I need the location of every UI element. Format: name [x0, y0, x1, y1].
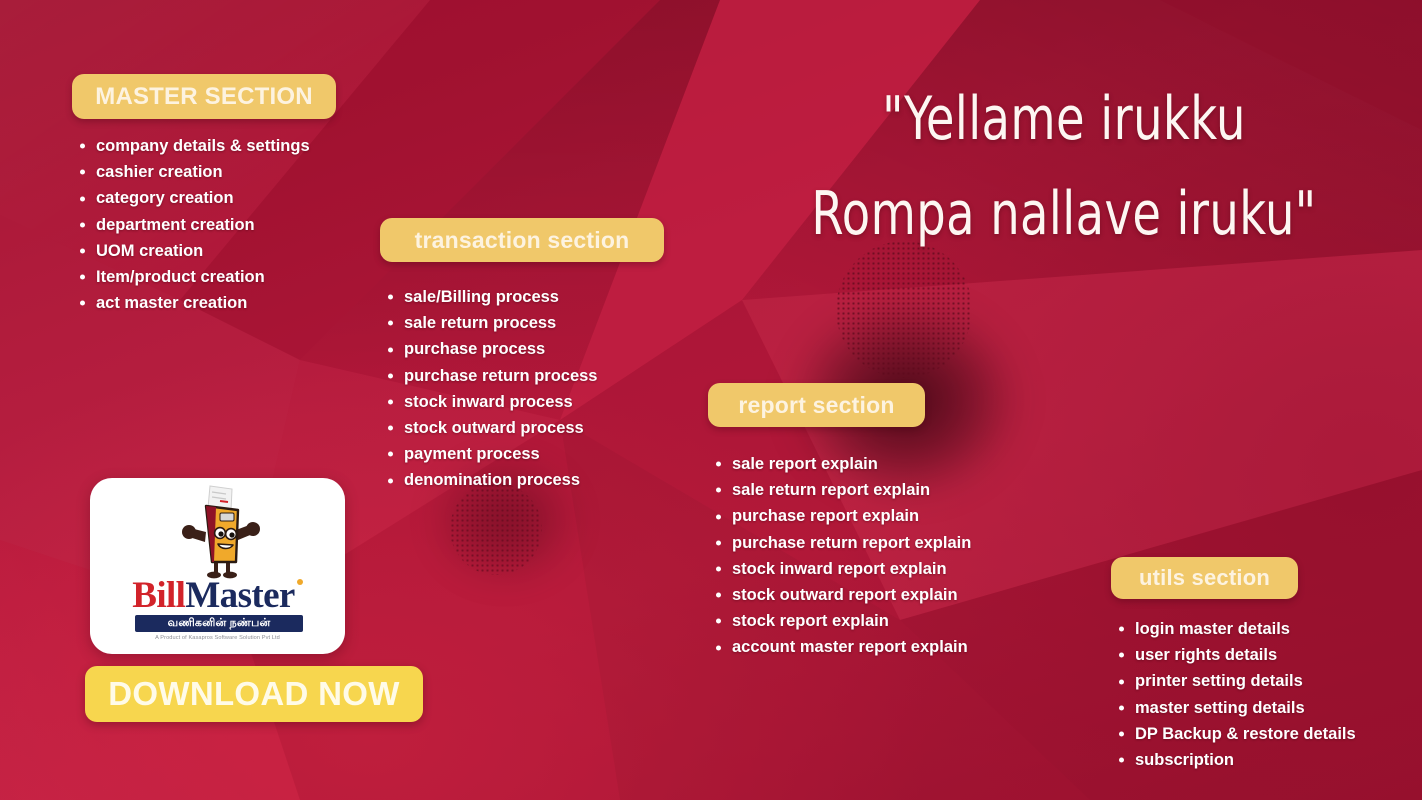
list-item: purchase report explain	[714, 503, 971, 529]
download-now-button[interactable]: DOWNLOAD NOW	[85, 666, 423, 722]
feature-list-master: company details & settings cashier creat…	[78, 133, 310, 316]
logo-word-bill: Bill	[132, 575, 185, 616]
logo-accent-dot	[297, 579, 303, 585]
list-item: cashier creation	[78, 159, 310, 185]
feature-list-transaction: sale/Billing process sale return process…	[386, 284, 598, 494]
list-item: sale/Billing process	[386, 284, 598, 310]
list-item: purchase return report explain	[714, 530, 971, 556]
list-item: sale return process	[386, 310, 598, 336]
list-item: user rights details	[1117, 642, 1356, 668]
feature-list-utils: login master details user rights details…	[1117, 616, 1356, 773]
list-item: act master creation	[78, 290, 310, 316]
logo-tamil-tagline: வணிகனின் நண்பன்	[135, 615, 303, 632]
list-item: category creation	[78, 185, 310, 211]
logo-card: BillMaster வணிகனின் நண்பன் A Product of …	[90, 478, 345, 654]
list-item: department creation	[78, 212, 310, 238]
list-item: purchase process	[386, 336, 598, 362]
dotted-circle-small	[450, 483, 542, 575]
list-item: denomination process	[386, 467, 598, 493]
feature-poster: "Yellame irukku Rompa nallave iruku" MAS…	[0, 0, 1422, 800]
list-item: Item/product creation	[78, 264, 310, 290]
headline-quote: "Yellame irukku Rompa nallave iruku"	[756, 72, 1372, 262]
section-badge-master: MASTER SECTION	[72, 74, 336, 119]
feature-list-report: sale report explain sale return report e…	[714, 451, 971, 661]
list-item: printer setting details	[1117, 668, 1356, 694]
headline-line-1: "Yellame irukku	[756, 72, 1372, 167]
billing-machine-mascot-icon	[176, 484, 264, 580]
list-item: stock inward process	[386, 389, 598, 415]
list-item: account master report explain	[714, 634, 971, 660]
list-item: login master details	[1117, 616, 1356, 642]
list-item: subscription	[1117, 747, 1356, 773]
list-item: UOM creation	[78, 238, 310, 264]
list-item: sale return report explain	[714, 477, 971, 503]
list-item: purchase return process	[386, 363, 598, 389]
list-item: stock inward report explain	[714, 556, 971, 582]
logo-word-master: Master	[185, 575, 294, 616]
logo-company-line: A Product of Kasapros Software Solution …	[90, 635, 345, 641]
list-item: payment process	[386, 441, 598, 467]
section-badge-report: report section	[708, 383, 925, 427]
list-item: stock report explain	[714, 608, 971, 634]
list-item: master setting details	[1117, 695, 1356, 721]
list-item: DP Backup & restore details	[1117, 721, 1356, 747]
list-item: company details & settings	[78, 133, 310, 159]
headline-line-2: Rompa nallave iruku"	[756, 167, 1372, 262]
section-badge-transaction: transaction section	[380, 218, 664, 262]
list-item: sale report explain	[714, 451, 971, 477]
section-badge-utils: utils section	[1111, 557, 1298, 599]
list-item: stock outward process	[386, 415, 598, 441]
logo-wordmark: BillMaster	[90, 576, 345, 616]
list-item: stock outward report explain	[714, 582, 971, 608]
